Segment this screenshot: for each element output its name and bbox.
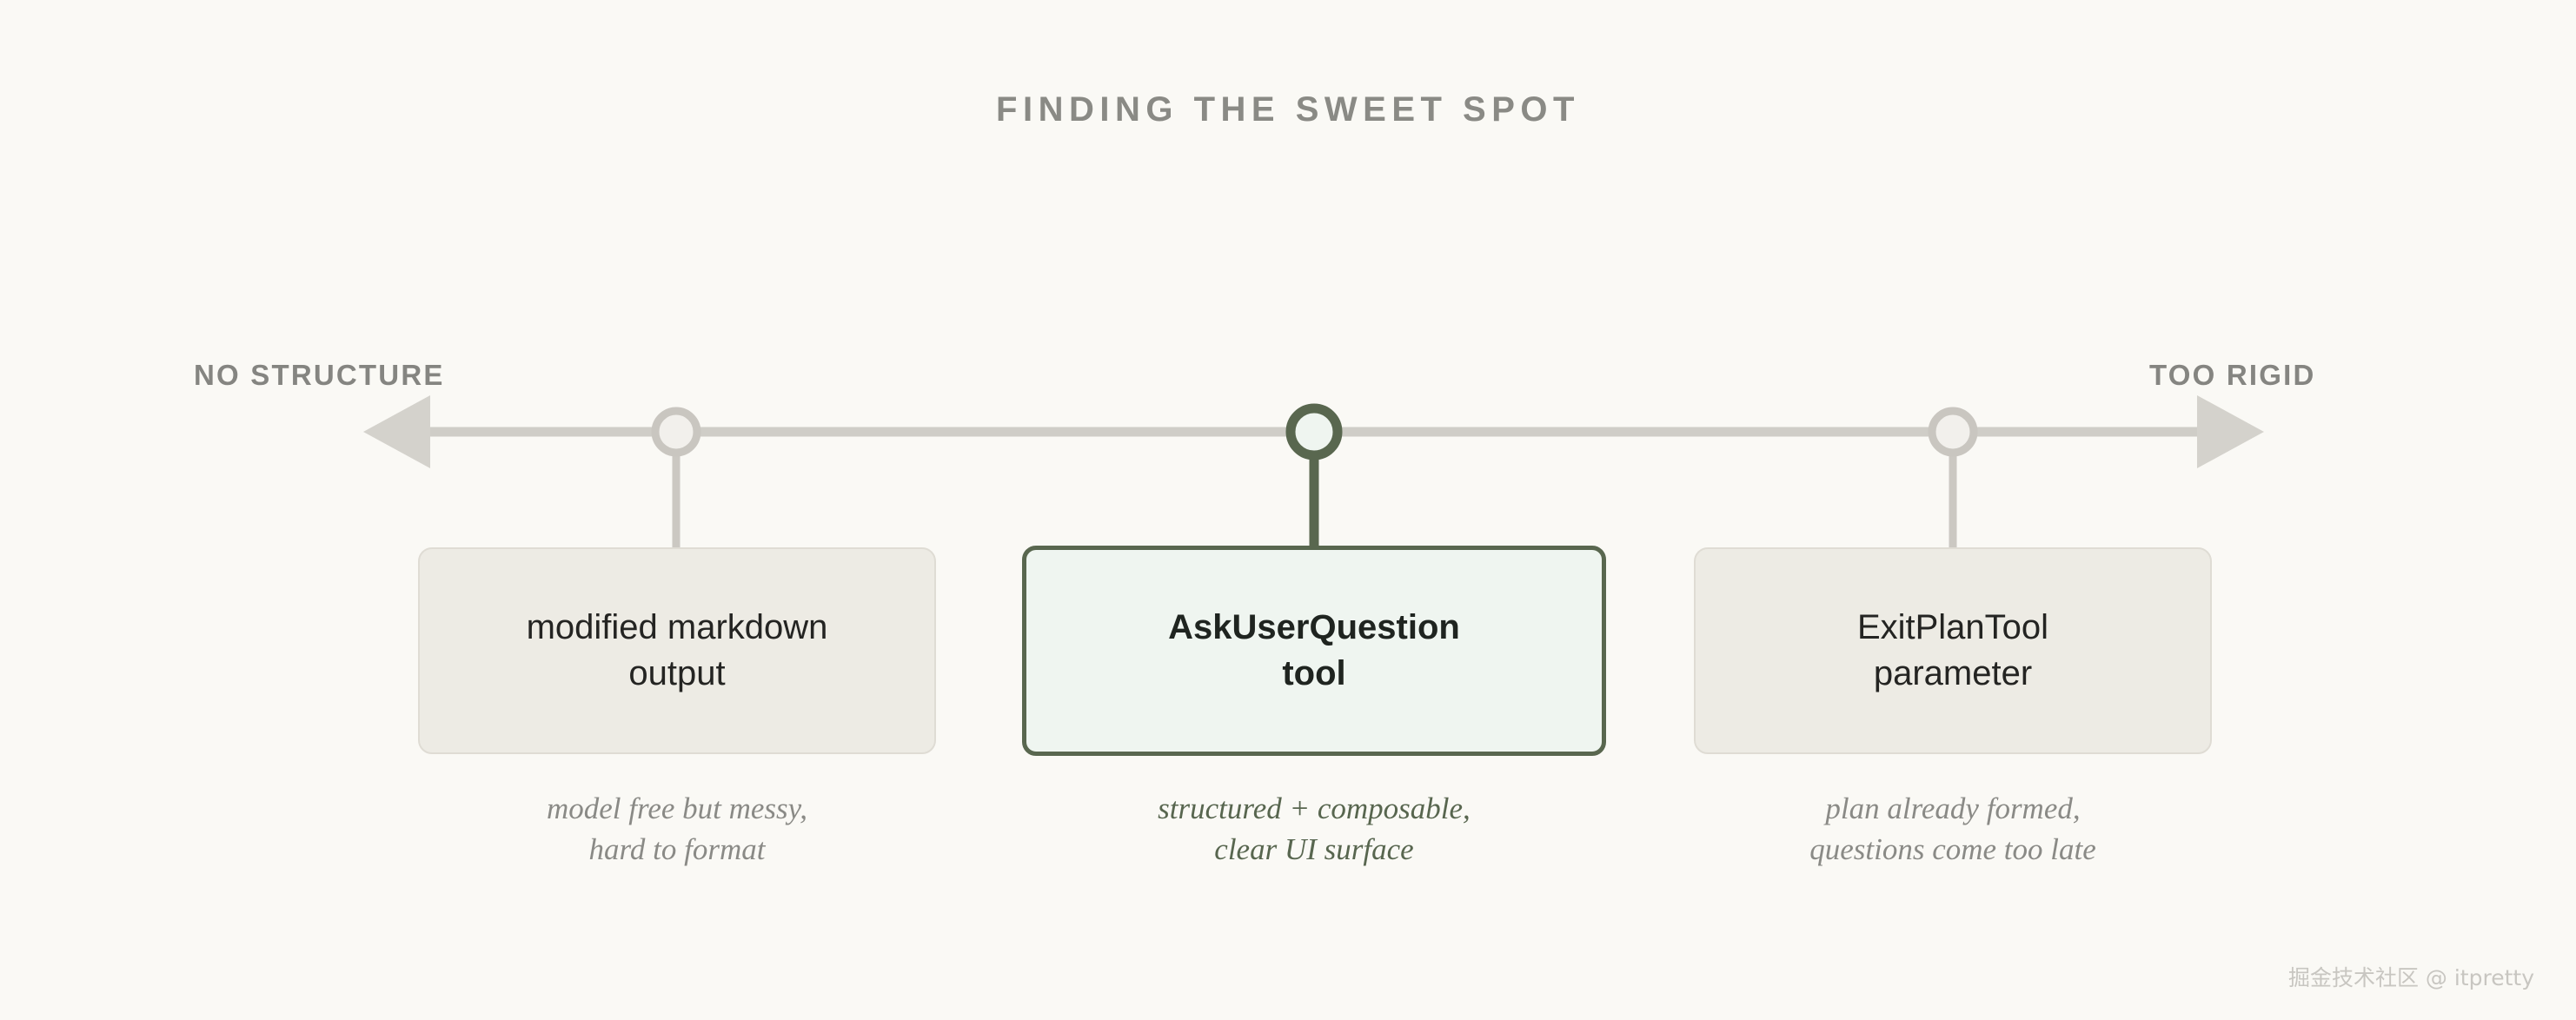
axis-arrow-right-icon (2197, 395, 2264, 468)
axis-arrow-left-icon (363, 395, 430, 468)
option-caption-modified-markdown-output: model free but messy, hard to format (418, 789, 936, 870)
axis-label-too-rigid: TOO RIGID (2149, 359, 2316, 392)
option-card-askuserquestion-tool[interactable]: AskUserQuestion tool (1022, 546, 1606, 756)
diagram-canvas: FINDING THE SWEET SPOT NO STRUCTURE TOO … (0, 0, 2576, 1020)
option-card-label: AskUserQuestion tool (1147, 605, 1481, 697)
page-title: FINDING THE SWEET SPOT (0, 90, 2576, 129)
option-caption-askuserquestion-tool: structured + composable, clear UI surfac… (1022, 789, 1606, 870)
option-card-label: modified markdown output (506, 605, 849, 697)
option-card-exitplantool-parameter[interactable]: ExitPlanTool parameter (1694, 547, 2212, 754)
axis-label-no-structure: NO STRUCTURE (194, 359, 445, 392)
axis-node-center[interactable] (1291, 408, 1338, 455)
watermark: 掘金技术社区 @ itpretty (2288, 961, 2534, 992)
option-card-modified-markdown-output[interactable]: modified markdown output (418, 547, 936, 754)
option-card-label: ExitPlanTool parameter (1836, 605, 2069, 697)
axis-node-right[interactable] (1932, 411, 1974, 453)
option-caption-exitplantool-parameter: plan already formed, questions come too … (1694, 789, 2212, 870)
axis-node-left[interactable] (655, 411, 697, 453)
